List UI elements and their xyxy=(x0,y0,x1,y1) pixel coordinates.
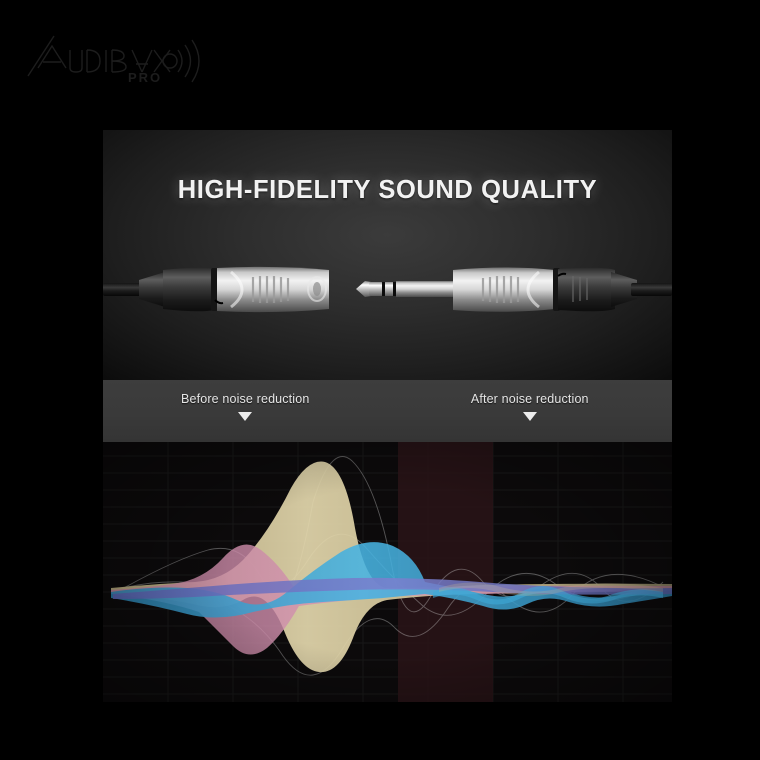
triangle-down-icon-before xyxy=(238,412,252,421)
screenshot-root: PRO HIGH-FIDELITY SOUND QUALITY xyxy=(0,0,760,760)
before-label-cell: Before noise reduction xyxy=(103,380,388,442)
speaker-waves-icon: PRO xyxy=(18,24,208,86)
before-noise-reduction-label: Before noise reduction xyxy=(181,392,309,406)
xlr-connector xyxy=(103,267,329,312)
waveform-chart xyxy=(103,442,672,702)
waveform-graphic xyxy=(103,442,672,702)
page-title: HIGH-FIDELITY SOUND QUALITY xyxy=(103,176,672,205)
comparison-label-band: Before noise reduction After noise reduc… xyxy=(103,380,672,442)
triangle-down-icon-after xyxy=(523,412,537,421)
brand-logo: PRO xyxy=(18,24,208,86)
cable-product-image xyxy=(103,248,672,332)
hero-section: HIGH-FIDELITY SOUND QUALITY xyxy=(103,130,672,380)
brand-sub: PRO xyxy=(128,70,162,85)
after-label-cell: After noise reduction xyxy=(388,380,673,442)
trs-jack-connector xyxy=(356,268,672,312)
product-feature-panel: HIGH-FIDELITY SOUND QUALITY xyxy=(103,130,672,702)
after-noise-reduction-label: After noise reduction xyxy=(471,392,589,406)
